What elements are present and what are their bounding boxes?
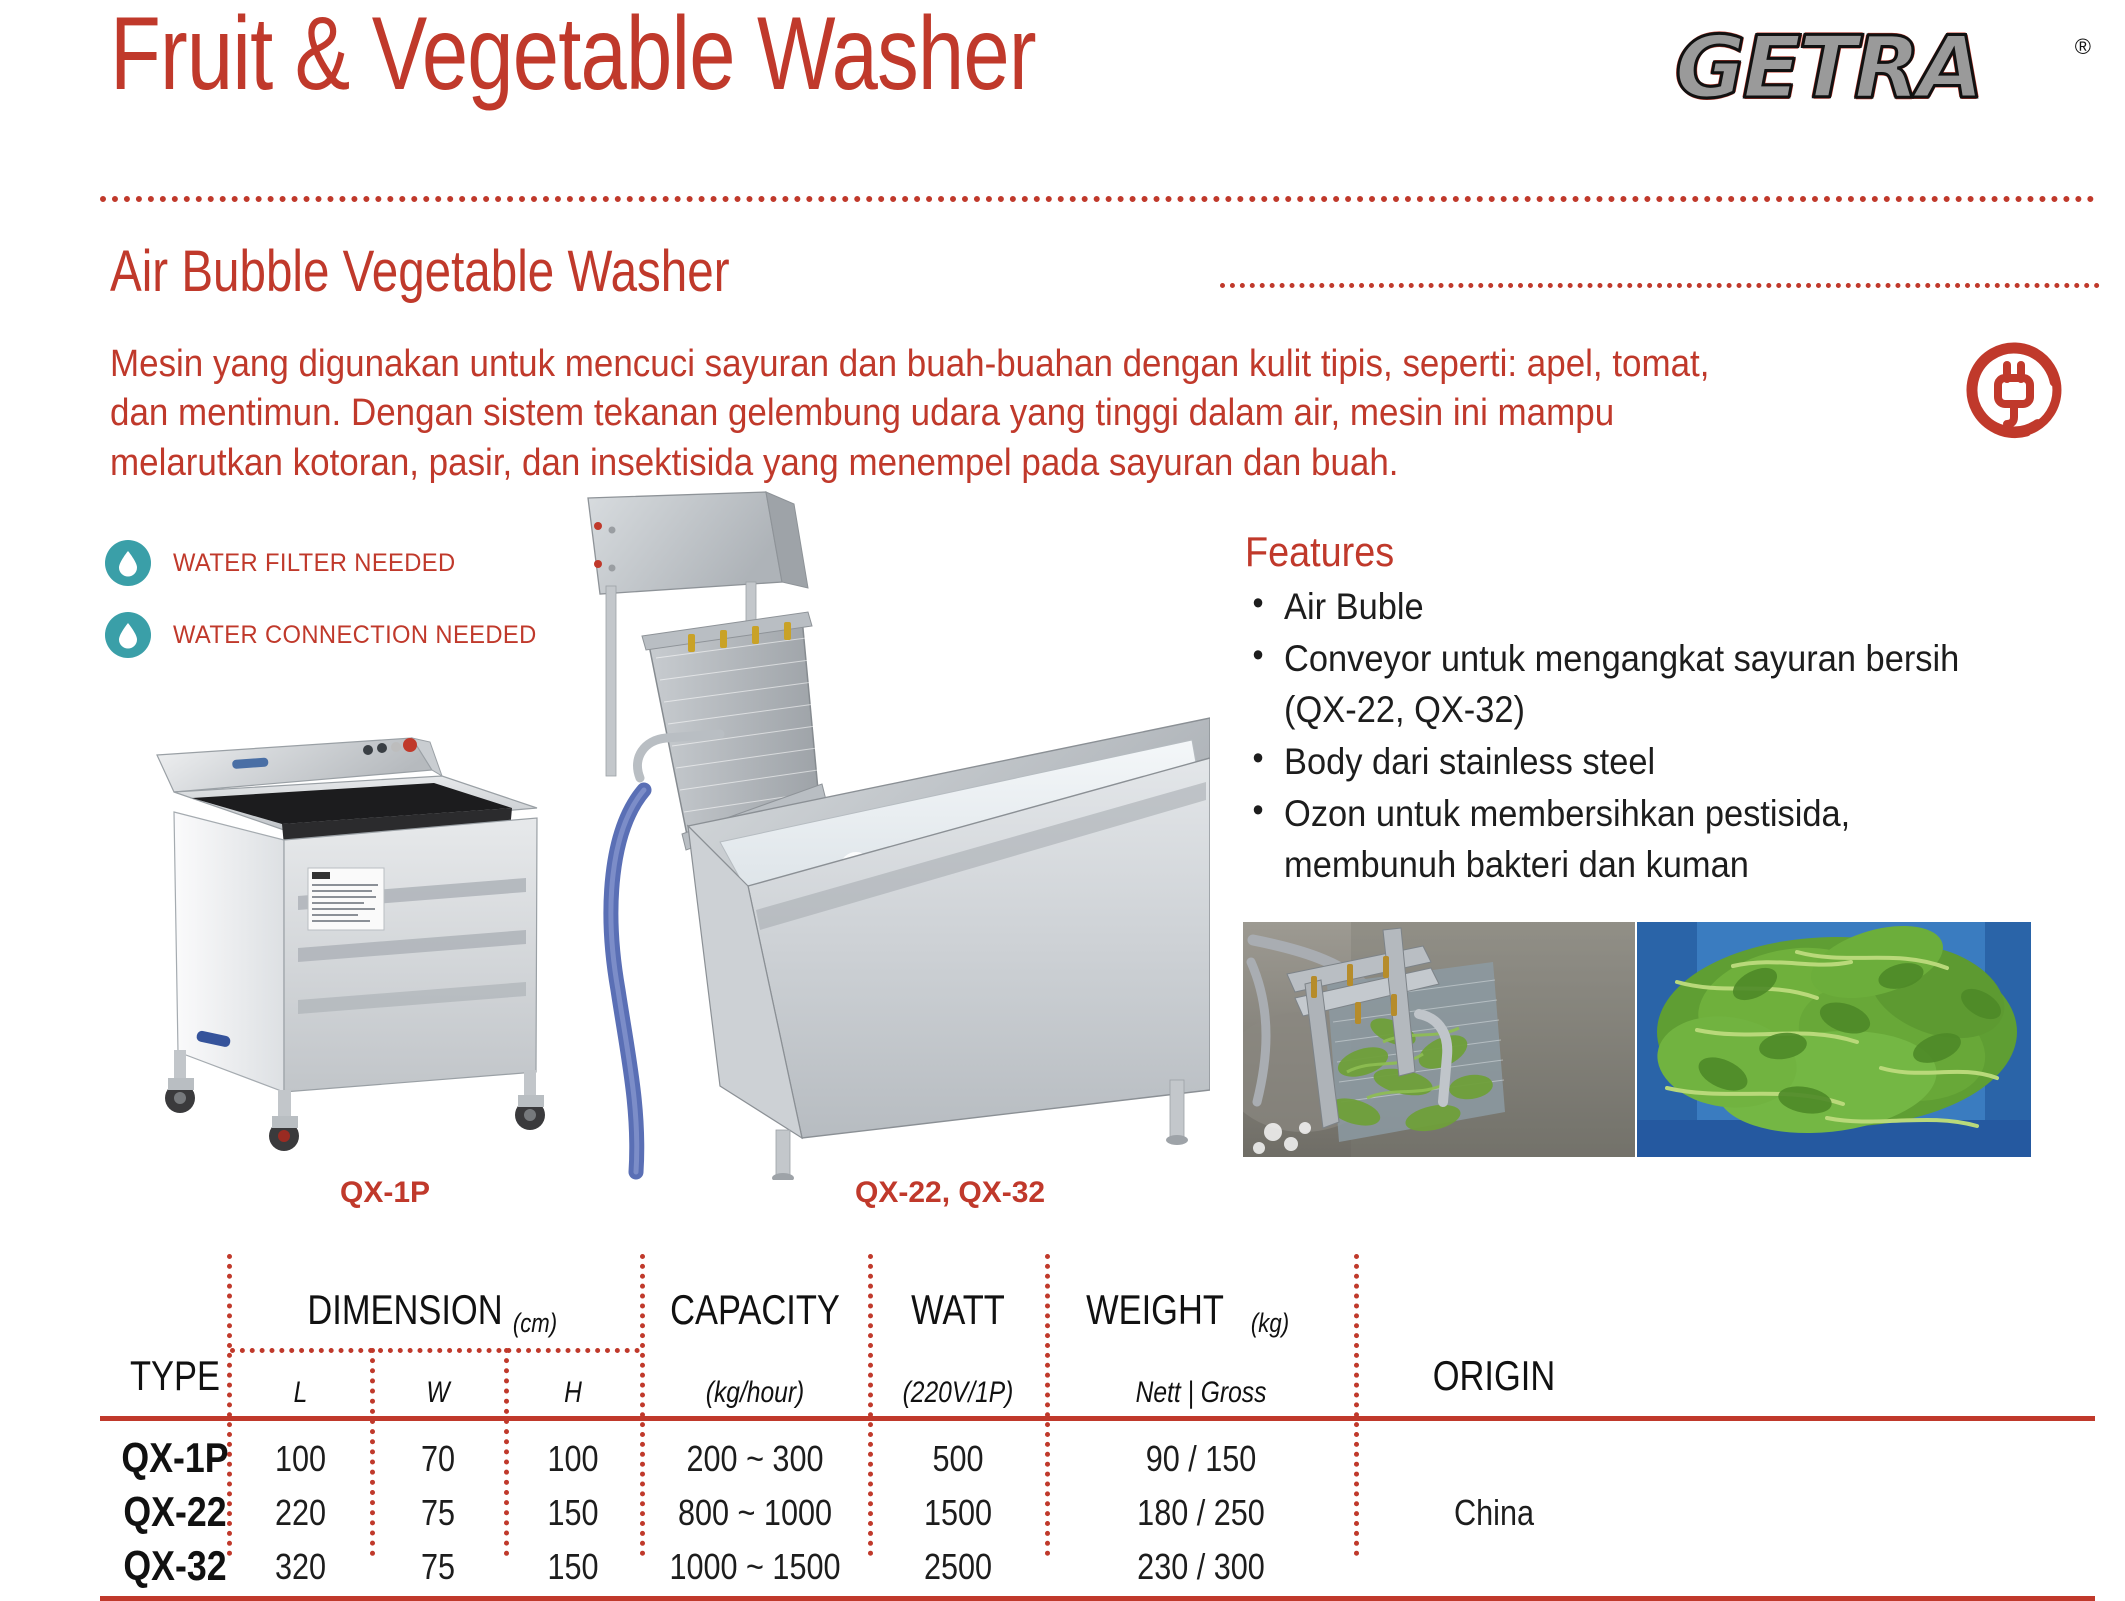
table-cell-origin: China	[1375, 1492, 1613, 1534]
requirement-badge-label: WATER CONNECTION NEEDED	[173, 621, 537, 650]
feature-item: Conveyor untuk mengangkat sayuran bersih…	[1245, 634, 1989, 735]
section-subtitle: Air Bubble Vegetable Washer	[110, 238, 730, 305]
table-cell-capacity: 1000 ~ 1500	[657, 1546, 853, 1588]
table-cell-weight: 90 / 150	[1071, 1438, 1331, 1480]
features-section: Features Air Buble Conveyor untuk mengan…	[1245, 528, 2045, 892]
subtitle-divider	[1220, 283, 2100, 288]
table-cell-width: 75	[380, 1492, 496, 1534]
column-divider	[868, 1254, 873, 1556]
product-photo-qx22-qx32	[570, 490, 1210, 1180]
table-cell-weight: 180 / 250	[1071, 1492, 1331, 1534]
page-title: Fruit & Vegetable Washer	[110, 2, 1036, 106]
dimension-subheader-divider	[230, 1348, 640, 1353]
features-list: Air Buble Conveyor untuk mengangkat sayu…	[1245, 582, 2045, 890]
table-row-type: QX-32	[94, 1542, 256, 1590]
product-description: Mesin yang digunakan untuk mencuci sayur…	[110, 340, 1775, 488]
feature-item: Air Buble	[1245, 582, 1989, 632]
table-row-type: QX-22	[94, 1488, 256, 1536]
water-drop-icon	[105, 612, 151, 658]
table-bottom-rule	[100, 1596, 2095, 1601]
table-cell-height: 150	[514, 1492, 631, 1534]
column-divider	[640, 1254, 645, 1556]
water-drop-icon	[105, 540, 151, 586]
table-row-type: QX-1P	[94, 1434, 256, 1482]
photo-caption-left: QX-1P	[340, 1176, 430, 1210]
table-cell-watt: 500	[882, 1438, 1035, 1480]
header-weight-sub: Nett | Gross	[1076, 1376, 1327, 1410]
header-origin: ORIGIN	[1379, 1352, 1609, 1400]
page-header: Fruit & Vegetable Washer GETRA ®	[0, 0, 2125, 190]
requirement-badge-label: WATER FILTER NEEDED	[173, 549, 456, 578]
column-divider	[1354, 1254, 1359, 1556]
table-cell-width: 70	[380, 1438, 496, 1480]
table-cell-length: 100	[239, 1438, 362, 1480]
photo-caption-right: QX-22, QX-32	[855, 1176, 1045, 1210]
feature-item: Ozon untuk membersihkan pestisida, membu…	[1245, 789, 1989, 890]
requirement-badge-list: WATER FILTER NEEDED WATER CONNECTION NEE…	[105, 540, 556, 684]
table-cell-width: 75	[380, 1546, 496, 1588]
table-cell-capacity: 800 ~ 1000	[657, 1492, 853, 1534]
requirement-badge: WATER FILTER NEEDED	[105, 540, 556, 586]
header-type: TYPE	[97, 1352, 253, 1400]
table-cell-height: 100	[514, 1438, 631, 1480]
product-photo-qx1p	[112, 700, 582, 1168]
header-watt-unit: (220V/1P)	[884, 1376, 1032, 1410]
table-cell-length: 220	[239, 1492, 362, 1534]
table-cell-weight: 230 / 300	[1071, 1546, 1331, 1588]
column-divider	[1045, 1254, 1050, 1556]
electric-plug-icon	[1962, 338, 2066, 442]
header-dimension-unit: (cm)	[498, 1308, 572, 1339]
header-divider	[100, 196, 2095, 202]
table-cell-capacity: 200 ~ 300	[657, 1438, 853, 1480]
header-capacity: CAPACITY	[661, 1286, 850, 1334]
registered-trademark-icon: ®	[2075, 34, 2091, 60]
application-photo-conveyor-washing	[1243, 922, 1635, 1157]
column-divider	[370, 1348, 375, 1556]
table-cell-length: 320	[239, 1546, 362, 1588]
header-weight-unit: (kg)	[1233, 1308, 1307, 1339]
getra-logo: GETRA ®	[1675, 18, 2095, 110]
features-title: Features	[1245, 528, 1965, 576]
header-dimension-h: H	[516, 1376, 629, 1410]
header-dimension-l: L	[241, 1376, 360, 1410]
column-divider	[504, 1348, 509, 1556]
header-weight: WEIGHT	[1053, 1286, 1258, 1334]
specification-table: TYPE DIMENSION (cm) L W H CAPACITY (kg/h…	[100, 1248, 2095, 1578]
application-photo-washed-greens	[1637, 922, 2031, 1157]
header-watt: WATT	[884, 1286, 1032, 1334]
feature-item: Body dari stainless steel	[1245, 737, 1989, 787]
header-capacity-unit: (kg/hour)	[661, 1376, 850, 1410]
logo-wordmark: GETRA	[1675, 18, 1981, 118]
header-dimension-w: W	[382, 1376, 494, 1410]
table-cell-watt: 1500	[882, 1492, 1035, 1534]
header-bottom-rule	[100, 1416, 2095, 1421]
requirement-badge: WATER CONNECTION NEEDED	[105, 612, 556, 658]
header-dimension: DIMENSION	[303, 1286, 508, 1334]
table-cell-height: 150	[514, 1546, 631, 1588]
table-cell-watt: 2500	[882, 1546, 1035, 1588]
